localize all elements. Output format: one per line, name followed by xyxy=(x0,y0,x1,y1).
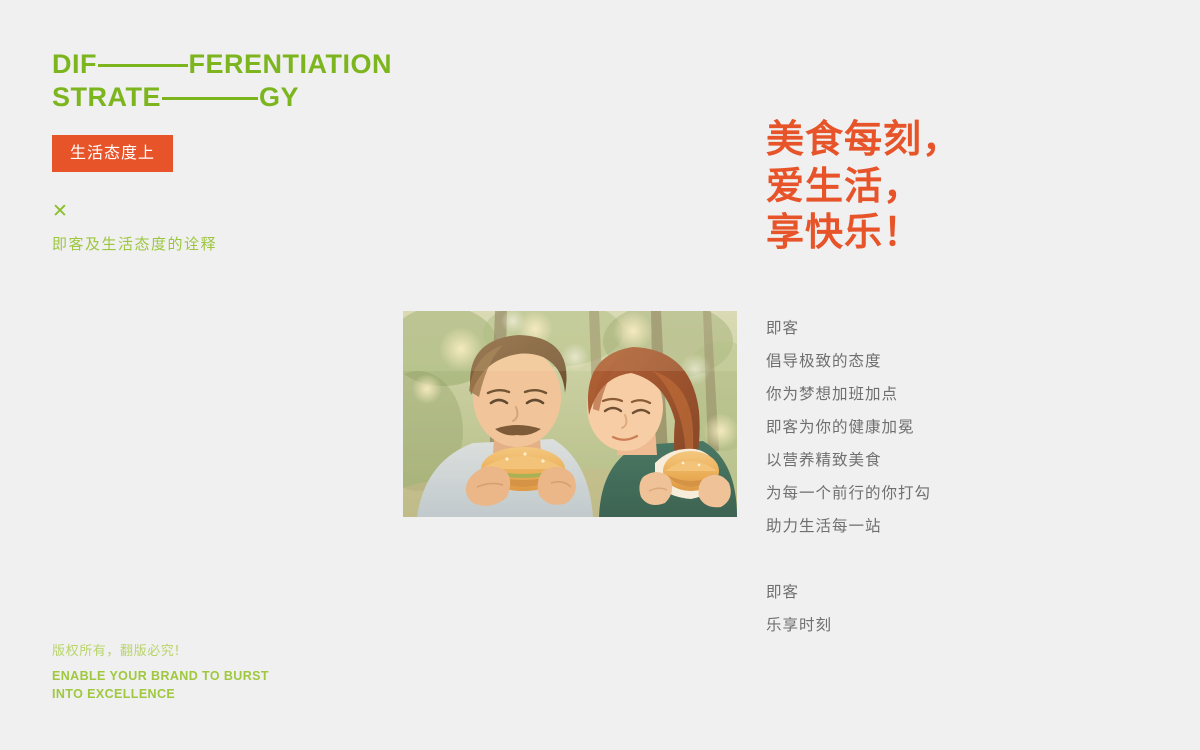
kicker-line-two: STRATE GY xyxy=(52,81,392,114)
attitude-button[interactable]: 生活态度上 xyxy=(52,135,173,172)
kicker-line-two-end: GY xyxy=(259,81,299,114)
body-paragraph: 即客 倡导极致的态度 你为梦想加班加点 即客为你的健康加冕 以营养精致美食 为每… xyxy=(766,312,931,543)
footer-tagline-line: INTO EXCELLENCE xyxy=(52,685,382,703)
copy-line: 你为梦想加班加点 xyxy=(766,378,931,411)
interpretation-text: 即客及生活态度的诠释 xyxy=(52,237,392,252)
copy-line: 为每一个前行的你打勾 xyxy=(766,477,931,510)
slogan-line: 爱生活， xyxy=(766,163,961,210)
copy-line: 即客 xyxy=(766,576,931,609)
copy-line: 倡导极致的态度 xyxy=(766,345,931,378)
kicker-line-one-start: DIF xyxy=(52,48,97,81)
close-icon: ✕ xyxy=(52,202,392,221)
copy-line: 乐享时刻 xyxy=(766,609,931,642)
slogan-headline: 美食每刻， 爱生活， 享快乐！ xyxy=(766,116,961,256)
slogan-line: 享快乐！ xyxy=(766,209,961,256)
footer-tagline: ENABLE YOUR BRAND TO BURST INTO EXCELLEN… xyxy=(52,667,382,703)
couple-eating-burgers-photo xyxy=(403,311,737,517)
kicker-line-one: DIF FERENTIATION xyxy=(52,48,392,81)
body-paragraph: 即客 乐享时刻 xyxy=(766,576,931,642)
footer: 版权所有，翻版必究! ENABLE YOUR BRAND TO BURST IN… xyxy=(52,645,382,703)
kicker-line-one-end: FERENTIATION xyxy=(189,48,393,81)
copy-line: 即客 xyxy=(766,312,931,345)
copy-line: 助力生活每一站 xyxy=(766,510,931,543)
copy-line: 即客为你的健康加冕 xyxy=(766,411,931,444)
copy-line: 以营养精致美食 xyxy=(766,444,931,477)
copyright-notice: 版权所有，翻版必究! xyxy=(52,645,382,658)
left-column: DIF FERENTIATION STRATE GY 生活态度上 ✕ 即客及生活… xyxy=(52,48,392,252)
kicker-line-two-start: STRATE xyxy=(52,81,161,114)
footer-tagline-line: ENABLE YOUR BRAND TO BURST xyxy=(52,667,382,685)
slogan-line: 美食每刻， xyxy=(766,116,961,163)
body-copy: 即客 倡导极致的态度 你为梦想加班加点 即客为你的健康加冕 以营养精致美食 为每… xyxy=(766,312,931,642)
kicker-rule-one xyxy=(98,64,188,67)
kicker-rule-two xyxy=(162,97,258,100)
